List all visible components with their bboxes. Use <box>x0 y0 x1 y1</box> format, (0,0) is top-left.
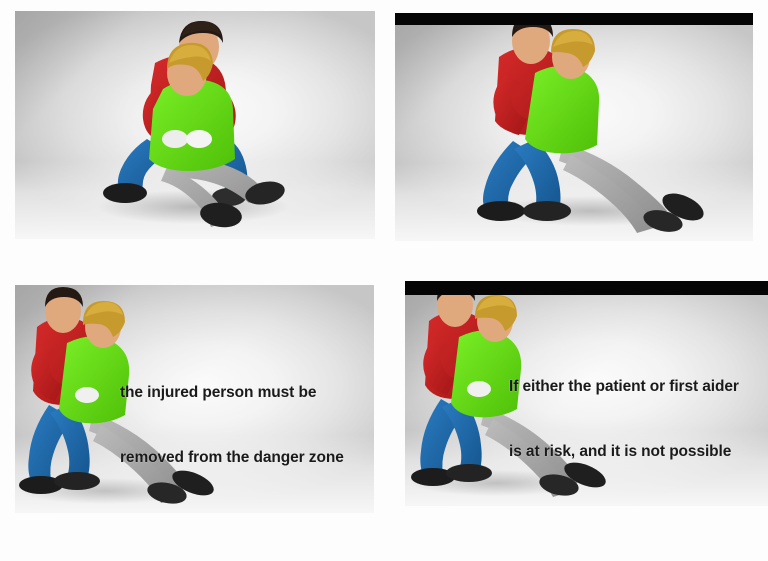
caption-line: to secure the accident scene, <box>509 505 739 506</box>
caption-block-bottom-right: If either the patient or first aider is … <box>509 333 739 506</box>
caption-line: is at risk, and it is not possible <box>509 441 739 463</box>
video-frame-top-right[interactable] <box>395 13 753 241</box>
video-frame-bottom-right[interactable]: If either the patient or first aider is … <box>405 281 768 506</box>
caption-line: removed from the danger zone <box>120 447 344 469</box>
scene-rescuer-dragging-patient-standing <box>395 13 753 241</box>
video-frame-top-left[interactable] <box>15 11 375 239</box>
caption-line: the injured person must be <box>120 382 344 404</box>
frame-grid: the injured person must be removed from … <box>0 0 768 561</box>
video-frame-bottom-left[interactable]: the injured person must be removed from … <box>15 285 374 513</box>
caption-block-bottom-left: the injured person must be removed from … <box>120 339 344 513</box>
caption-line: as quickly as possible, <box>120 511 344 513</box>
letterbox-bar <box>405 281 768 295</box>
scene-rescuer-kneeling-behind-seated-patient <box>15 11 375 239</box>
caption-line: If either the patient or first aider <box>509 376 739 398</box>
letterbox-bar <box>395 13 753 25</box>
